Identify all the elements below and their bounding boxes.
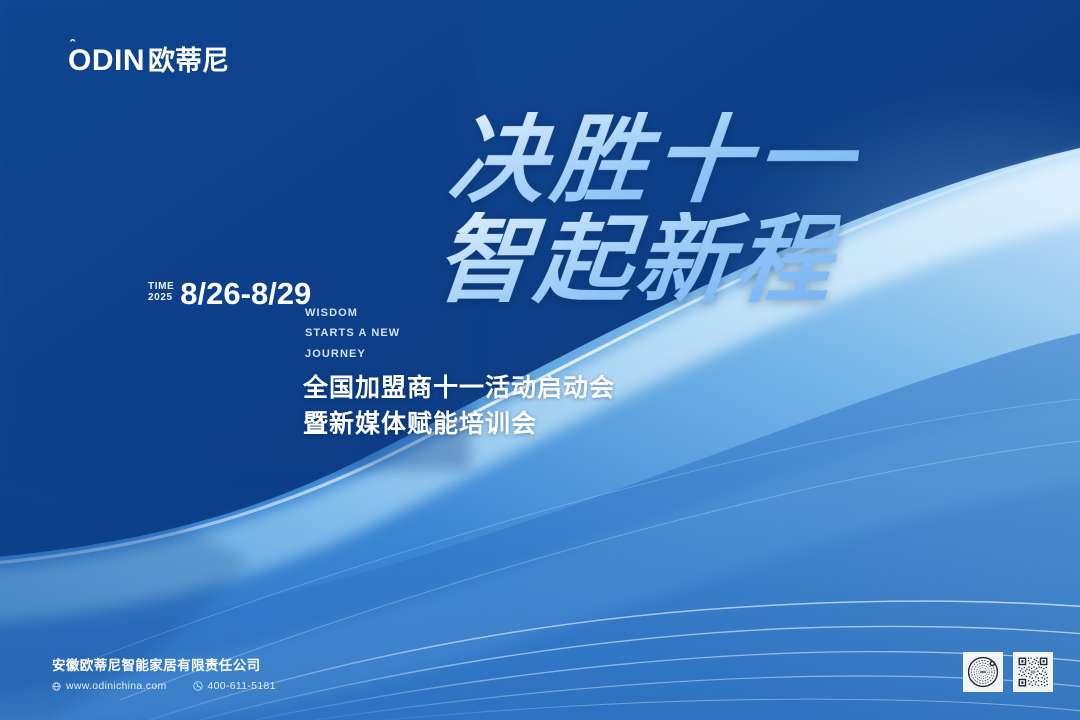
tagline-line-2: STARTS A NEW <box>305 323 400 343</box>
company-name: 安徽欧蒂尼智能家居有限责任公司 <box>52 656 276 676</box>
english-tagline: WISDOM STARTS A NEW JOURNEY <box>305 303 400 364</box>
qr-code-group <box>963 652 1053 692</box>
poster-canvas: ˆODIN 欧蒂尼 决胜十一 智起新程 TIME 2025 8/26-8/29 … <box>0 0 1080 720</box>
website-item[interactable]: www.odinichina.com <box>52 680 167 692</box>
subtitle-line-1: 全国加盟商十一活动启动会 <box>303 370 615 406</box>
date-range: 8/26-8/29 <box>180 278 311 309</box>
square-qr-code[interactable] <box>1013 652 1053 692</box>
date-label: TIME <box>148 281 174 293</box>
title-line-1: 决胜十一 <box>445 112 863 210</box>
website-text: www.odinichina.com <box>66 680 167 692</box>
round-qr-code[interactable] <box>963 652 1003 692</box>
contact-row: www.odinichina.com 400-611-5181 <box>52 680 276 692</box>
phone-text: 400-611-5181 <box>208 680 276 692</box>
event-subtitle: 全国加盟商十一活动启动会 暨新媒体赋能培训会 <box>303 370 615 443</box>
phone-icon <box>193 681 203 691</box>
brand-logo: ˆODIN 欧蒂尼 <box>68 46 229 76</box>
phone-item[interactable]: 400-611-5181 <box>193 680 276 692</box>
tagline-line-1: WISDOM <box>305 303 400 323</box>
globe-icon <box>52 682 61 691</box>
tagline-line-3: JOURNEY <box>305 344 400 364</box>
logo-letters-din: DIN <box>92 44 145 77</box>
date-kicker: TIME 2025 <box>148 281 174 307</box>
event-date: TIME 2025 8/26-8/29 <box>148 278 311 309</box>
logo-circumflex-icon: ˆ <box>70 38 76 53</box>
subtitle-line-2: 暨新媒体赋能培训会 <box>303 406 615 442</box>
date-year: 2025 <box>148 292 174 304</box>
footer: 安徽欧蒂尼智能家居有限责任公司 www.odinichina.com <box>52 656 276 692</box>
main-title: 决胜十一 智起新程 <box>436 112 936 352</box>
title-line-2: 智起新程 <box>431 212 841 310</box>
logo-wordmark: ˆODIN <box>68 46 145 76</box>
logo-chinese-name: 欧蒂尼 <box>148 48 229 75</box>
